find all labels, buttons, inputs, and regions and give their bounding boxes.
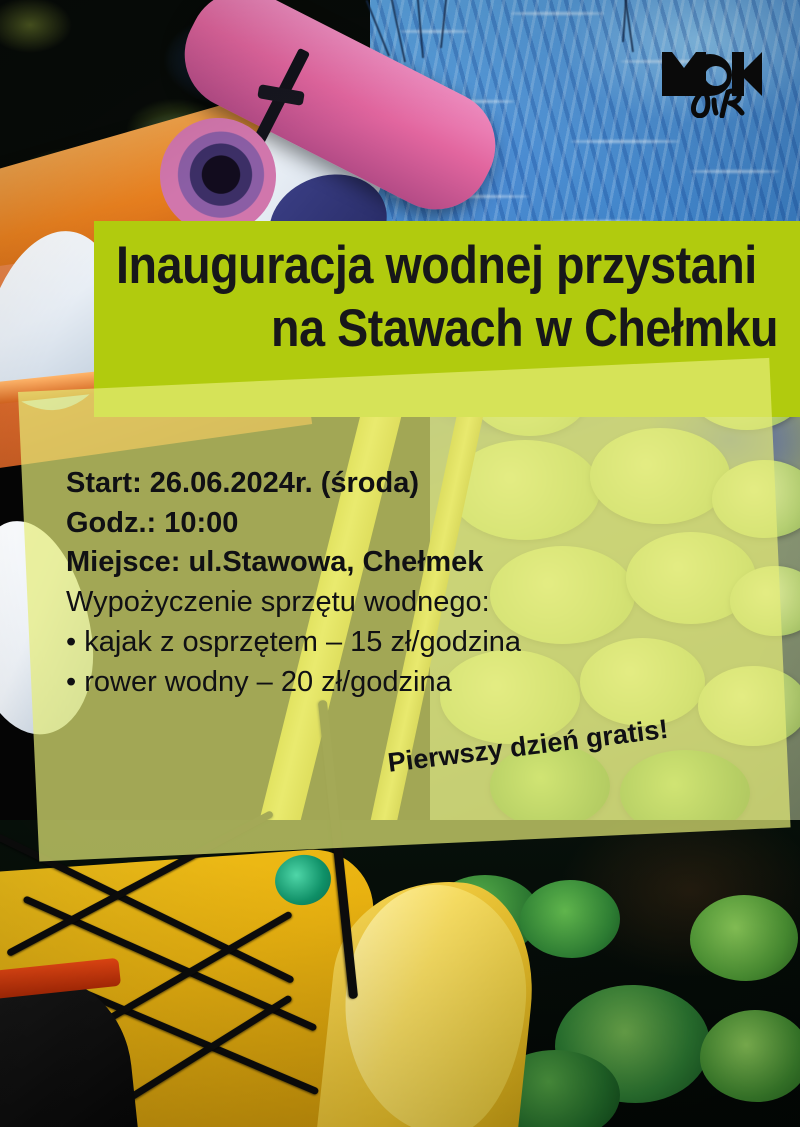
lily-pad [700,1010,800,1102]
title-line-1: Inauguracja wodnej przystani [116,235,699,298]
detail-location: Miejsce: ul.Stawowa, Chełmek [66,543,706,583]
detail-time: Godz.: 10:00 [66,504,706,544]
rental-item-pedal-boat: • rower wodny – 20 zł/godzina [66,663,706,703]
rental-item-kayak: • kajak z osprzętem – 15 zł/godzina [66,623,706,663]
title-line-2: na Stawach w Chełmku [195,298,778,361]
details-text-block: Start: 26.06.2024r. (środa) Godz.: 10:00… [66,464,706,702]
mok-ir-logo-icon [658,18,770,118]
lily-pad [520,880,620,958]
detail-rental-heading: Wypożyczenie sprzętu wodnego: [66,583,706,623]
lily-pad [690,895,798,981]
event-poster: Inauguracja wodnej przystani na Stawach … [0,0,800,1127]
detail-start-date: Start: 26.06.2024r. (środa) [66,464,706,504]
mok-ir-logo [658,18,770,118]
